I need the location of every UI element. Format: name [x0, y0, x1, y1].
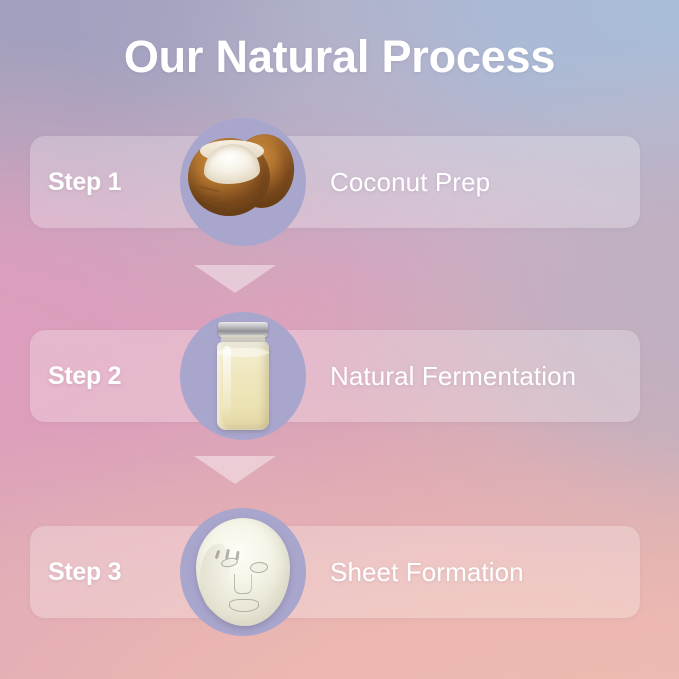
jar-highlight: [223, 346, 231, 418]
sheet-mask-icon: [180, 508, 306, 636]
coconut-fiber: [198, 185, 220, 192]
coconut-fiber: [200, 199, 219, 208]
step-title-1: Coconut Prep: [330, 136, 490, 228]
mask-mouth-cutout: [229, 599, 259, 612]
mask-nose-cutout: [234, 574, 252, 594]
process-step-1: Step 1 Coconut Prep: [0, 118, 679, 248]
step-label-1: Step 1: [48, 136, 121, 228]
coconut-front-half: [188, 138, 270, 216]
coconut-icon: [180, 118, 306, 246]
arrow-down-icon-1: [194, 265, 276, 293]
page-title: Our Natural Process: [0, 31, 679, 83]
step-label-2: Step 2: [48, 330, 121, 422]
coconut-fiber: [194, 194, 220, 200]
step-label-3: Step 3: [48, 526, 121, 618]
arrow-down-icon-2: [194, 456, 276, 484]
process-step-2: Step 2 Natural Fermentation: [0, 312, 679, 442]
mask-face: [196, 518, 290, 626]
jar-body: [217, 342, 269, 430]
mask-eye-hole-right: [250, 561, 269, 573]
step-title-2: Natural Fermentation: [330, 330, 576, 422]
fermentation-jar-icon: [180, 312, 306, 440]
process-step-3: Step 3 Sheet Formation: [0, 508, 679, 638]
step-title-3: Sheet Formation: [330, 526, 524, 618]
